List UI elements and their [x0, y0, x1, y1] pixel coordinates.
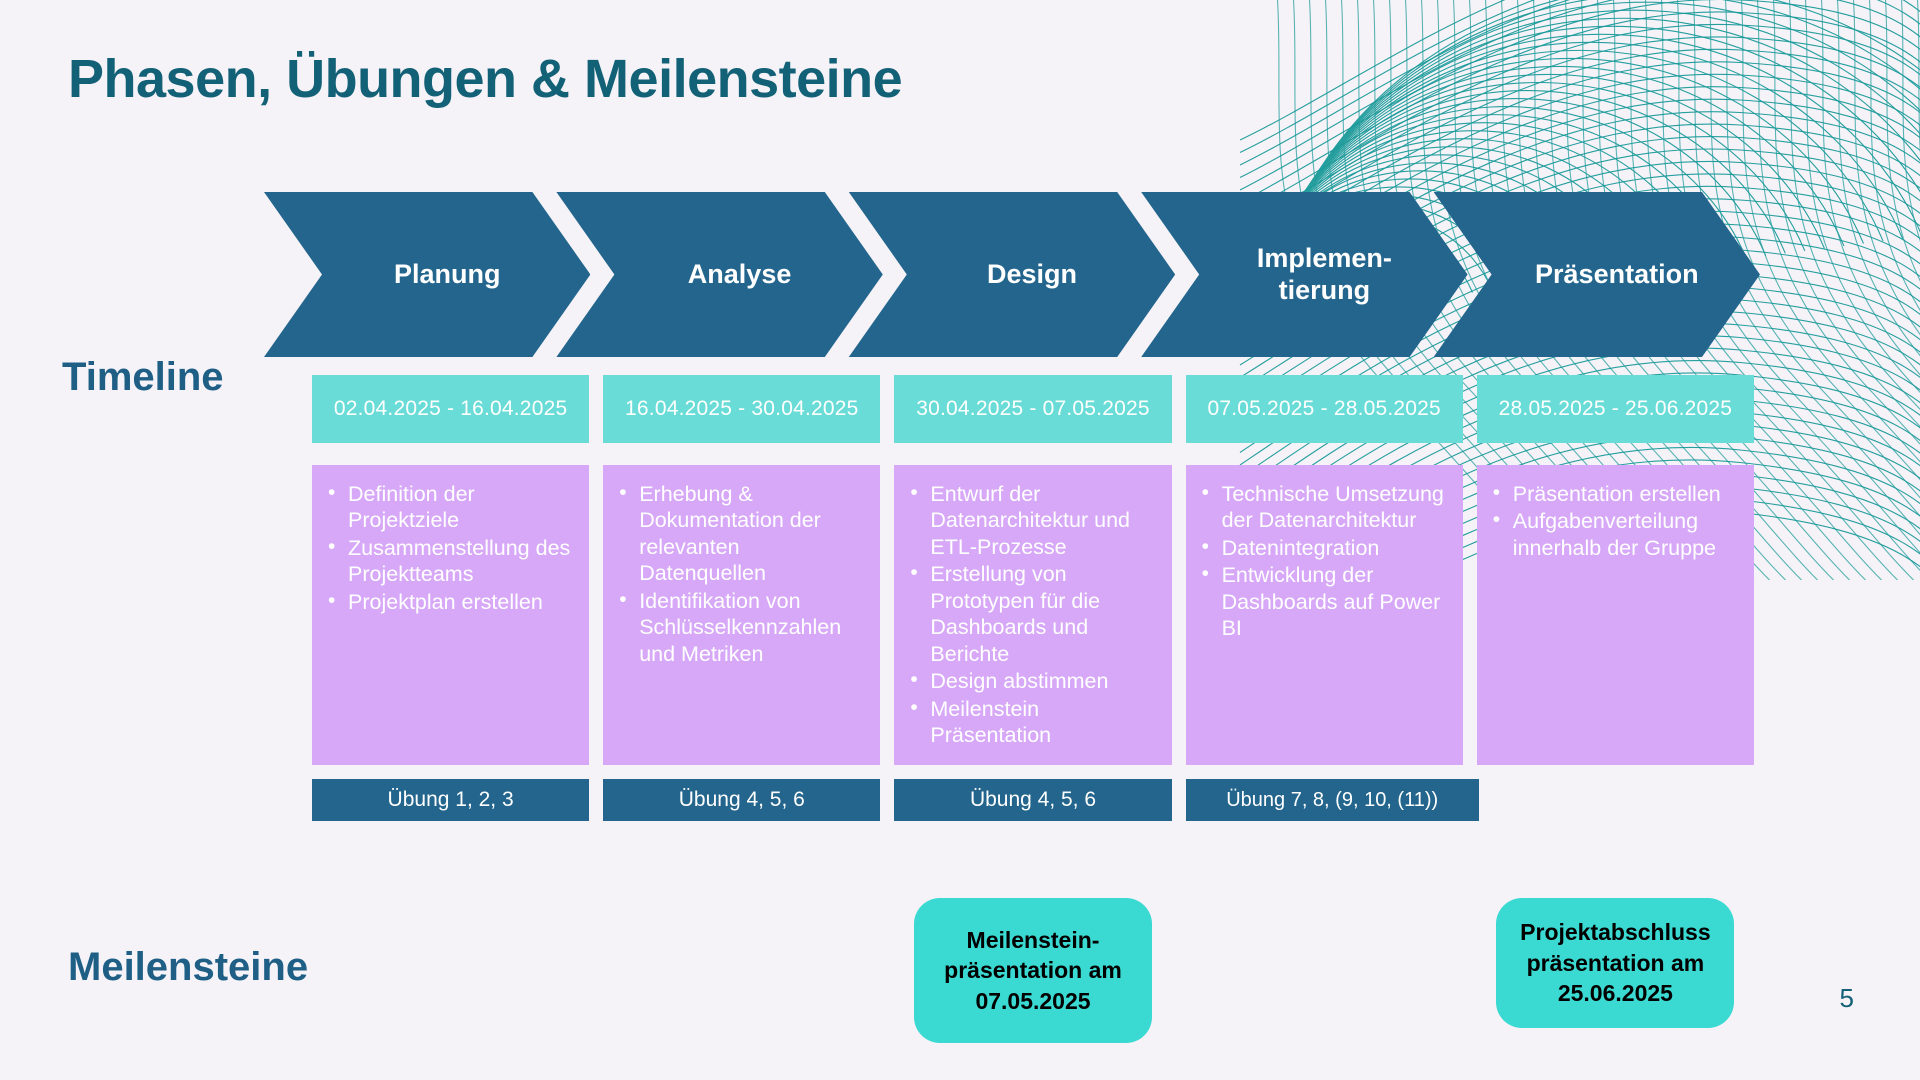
phase-date-range: 16.04.2025 - 30.04.2025 — [603, 375, 880, 443]
phase-column-5: 28.05.2025 - 25.06.2025Präsentation erst… — [1477, 375, 1754, 765]
timeline-section-label: Timeline — [62, 355, 224, 400]
milestones-section-label: Meilensteine — [68, 945, 308, 990]
phase-task-item: Zusammenstellung des Projektteams — [348, 535, 575, 588]
phase-task-item: Projektplan erstellen — [348, 589, 575, 615]
phase-task-list: Definition der ProjektzieleZusammenstell… — [322, 481, 575, 615]
phase-chevron-label: Präsentation — [1495, 259, 1699, 290]
phase-task-list: Entwurf der Datenarchitektur und ETL-Pro… — [904, 481, 1157, 748]
phase-task-item: Aufgabenverteilung innerhalb der Gruppe — [1513, 508, 1740, 561]
phase-task-item: Entwicklung der Dashboards auf Power BI — [1222, 562, 1449, 641]
phase-column-3: 30.04.2025 - 07.05.2025Entwurf der Daten… — [894, 375, 1171, 821]
phase-task-item: Definition der Projektziele — [348, 481, 575, 534]
phase-task-item: Erstellung von Prototypen für die Dashbo… — [930, 561, 1157, 667]
phase-chevron-row: PlanungAnalyseDesignImplemen- tierungPrä… — [310, 192, 1760, 357]
phase-chevron-label: Implemen- tierung — [1217, 243, 1392, 306]
phase-chevron-label: Analyse — [648, 259, 792, 290]
phase-task-item: Erhebung & Dokumentation der relevanten … — [639, 481, 866, 587]
phase-task-item: Präsentation erstellen — [1513, 481, 1740, 507]
phase-exercise-bar: Übung 4, 5, 6 — [894, 779, 1171, 821]
phase-task-box: Präsentation erstellenAufgabenverteilung… — [1477, 465, 1754, 765]
phase-column-4: 07.05.2025 - 28.05.2025Technische Umsetz… — [1186, 375, 1463, 821]
phase-exercise-bar: Übung 4, 5, 6 — [603, 779, 880, 821]
phase-column-2: 16.04.2025 - 30.04.2025Erhebung & Dokume… — [603, 375, 880, 821]
phase-date-range: 07.05.2025 - 28.05.2025 — [1186, 375, 1463, 443]
phase-chevron-3: Design — [849, 192, 1175, 357]
phase-chevron-1: Planung — [264, 192, 590, 357]
phase-chevron-label: Planung — [354, 259, 501, 290]
phase-chevron-label: Design — [947, 259, 1077, 290]
phase-date-range: 28.05.2025 - 25.06.2025 — [1477, 375, 1754, 443]
phase-task-item: Entwurf der Datenarchitektur und ETL-Pro… — [930, 481, 1157, 560]
phase-task-box: Definition der ProjektzieleZusammenstell… — [312, 465, 589, 765]
page-title: Phasen, Übungen & Meilensteine — [68, 48, 902, 110]
milestone-pill-1: Meilenstein- präsentation am 07.05.2025 — [914, 898, 1152, 1043]
phase-task-box: Erhebung & Dokumentation der relevanten … — [603, 465, 880, 765]
slide: Phasen, Übungen & Meilensteine Timeline … — [0, 0, 1920, 1080]
milestone-pill-2: Projektabschluss präsentation am 25.06.2… — [1496, 898, 1734, 1028]
phase-chevron-4: Implemen- tierung — [1141, 192, 1467, 357]
phase-task-list: Erhebung & Dokumentation der relevanten … — [613, 481, 866, 667]
phase-task-list: Präsentation erstellenAufgabenverteilung… — [1487, 481, 1740, 561]
page-number: 5 — [1840, 983, 1854, 1014]
phase-task-item: Datenintegration — [1222, 535, 1449, 561]
phase-task-item: Identifikation von Schlüsselkennzahlen u… — [639, 588, 866, 667]
phase-date-range: 02.04.2025 - 16.04.2025 — [312, 375, 589, 443]
phase-chevron-5: Präsentation — [1434, 192, 1760, 357]
phase-chevron-2: Analyse — [556, 192, 882, 357]
phase-task-box: Technische Umsetzung der Datenarchitektu… — [1186, 465, 1463, 765]
phase-task-list: Technische Umsetzung der Datenarchitektu… — [1196, 481, 1449, 642]
phase-task-item: Meilenstein Präsentation — [930, 696, 1157, 749]
phase-date-range: 30.04.2025 - 07.05.2025 — [894, 375, 1171, 443]
phase-column-1: 02.04.2025 - 16.04.2025Definition der Pr… — [312, 375, 589, 821]
phase-task-item: Technische Umsetzung der Datenarchitektu… — [1222, 481, 1449, 534]
phase-task-item: Design abstimmen — [930, 668, 1157, 694]
phase-exercise-bar: Übung 7, 8, (9, 10, (11)) — [1186, 779, 1479, 821]
phase-exercise-bar: Übung 1, 2, 3 — [312, 779, 589, 821]
phase-task-box: Entwurf der Datenarchitektur und ETL-Pro… — [894, 465, 1171, 765]
